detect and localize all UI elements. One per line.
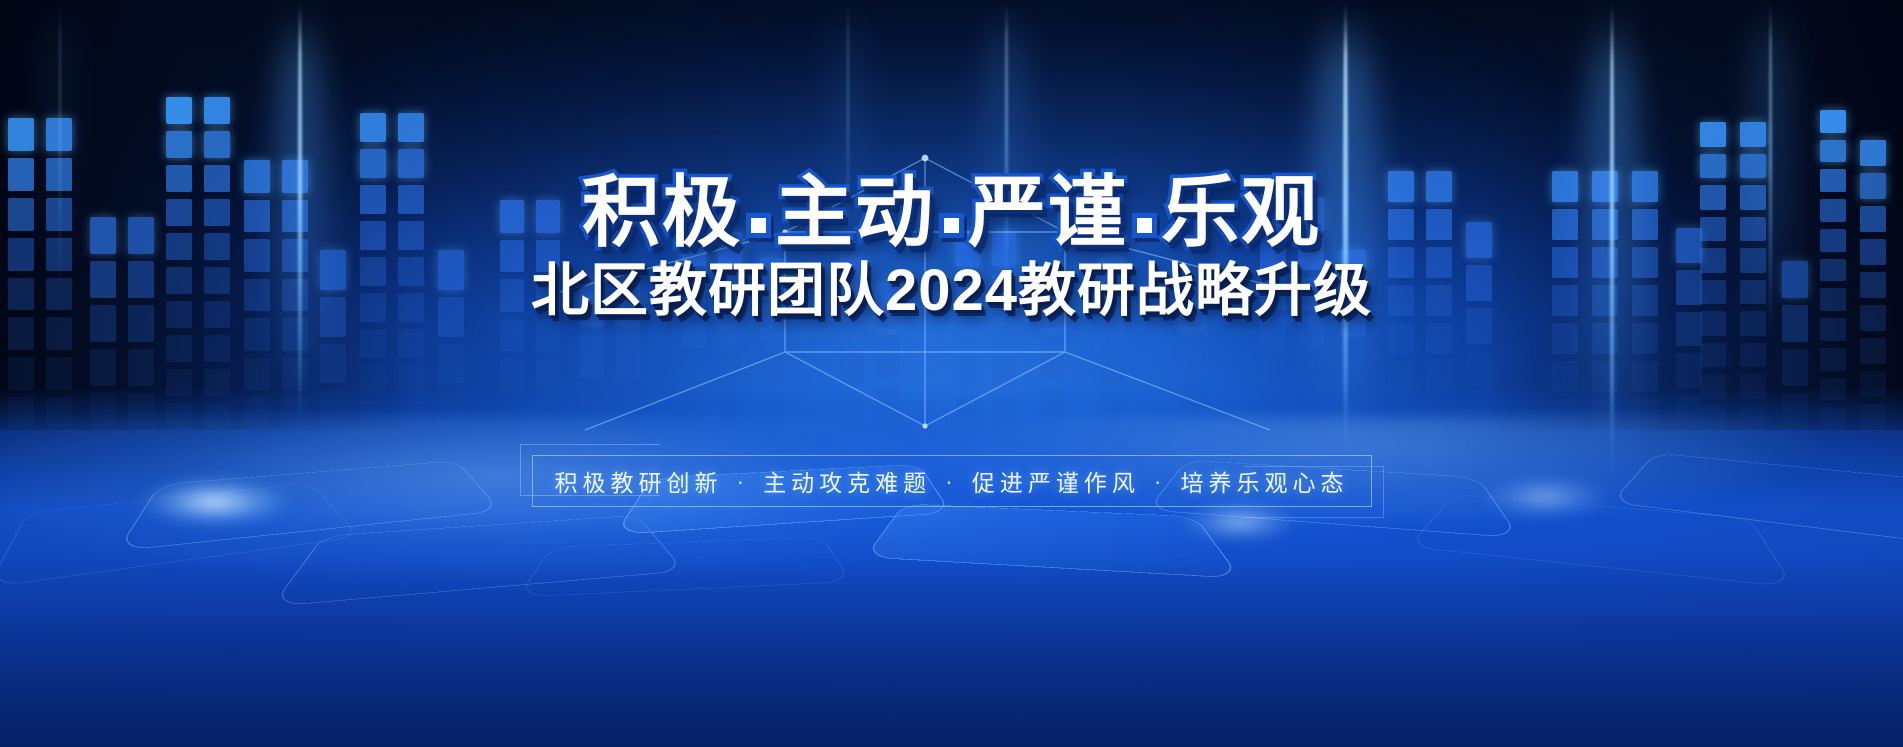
- tagline-item: 促进严谨作风: [972, 464, 1140, 498]
- tagline-text: 积极教研创新·主动攻克难题·促进严谨作风·培养乐观心态: [532, 455, 1372, 507]
- title-word: 积极: [582, 173, 742, 251]
- title-word: 主动: [775, 173, 935, 251]
- main-title: 积极主动严谨乐观: [0, 173, 1903, 251]
- title-separator-dot: [751, 218, 766, 233]
- banner-stage: 积极主动严谨乐观 北区教研团队2024教研战略升级 积极教研创新·主动攻克难题·…: [0, 0, 1903, 747]
- title-word: 乐观: [1161, 173, 1321, 251]
- tagline-item: 培养乐观心态: [1181, 464, 1349, 498]
- tagline-separator: ·: [1140, 468, 1181, 495]
- tagline-item: 积极教研创新: [554, 464, 722, 498]
- banner-content: 积极主动严谨乐观 北区教研团队2024教研战略升级 积极教研创新·主动攻克难题·…: [0, 0, 1903, 747]
- tagline-item: 主动攻克难题: [763, 464, 931, 498]
- tagline-container: 积极教研创新·主动攻克难题·促进严谨作风·培养乐观心态: [532, 455, 1372, 507]
- title-separator-dot: [1137, 218, 1152, 233]
- title-word: 严谨: [968, 173, 1128, 251]
- tagline-separator: ·: [931, 468, 972, 495]
- subtitle: 北区教研团队2024教研战略升级: [0, 262, 1903, 320]
- tagline-separator: ·: [722, 468, 763, 495]
- title-separator-dot: [944, 218, 959, 233]
